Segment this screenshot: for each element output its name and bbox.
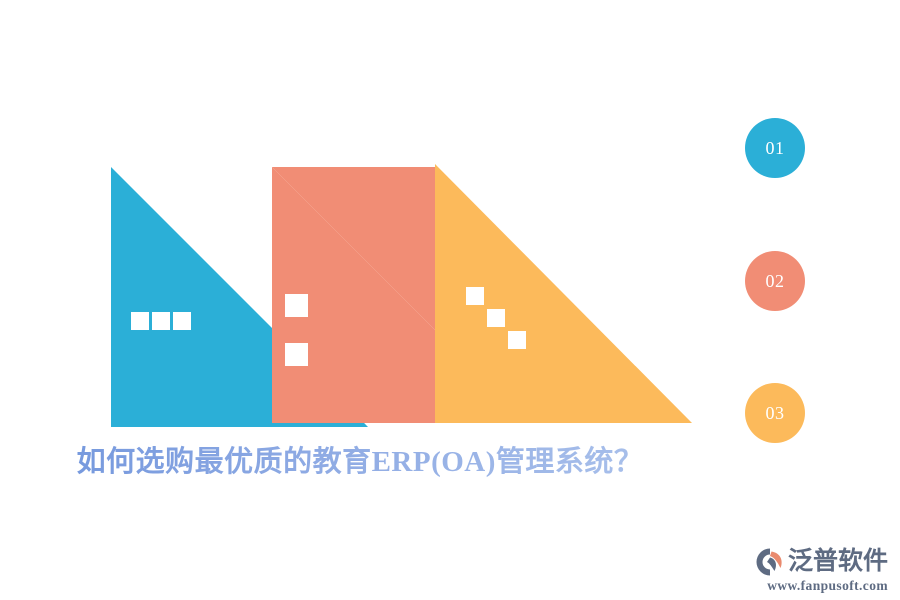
marker-square-02-a: [285, 294, 308, 317]
step-circle-01-label: 01: [766, 139, 785, 157]
marker-square-01-c: [173, 312, 191, 330]
step-circle-02-label: 02: [766, 272, 785, 290]
step-circle-03[interactable]: 03: [745, 383, 805, 443]
triangle-series-02: [272, 167, 437, 423]
marker-square-03-b: [487, 309, 505, 327]
brand-url: www.fanpusoft.com: [767, 579, 888, 593]
slide-canvas: 如何选购最优质的教育ERP(OA)管理系统？ 01 02 03 泛普软件 www…: [0, 0, 900, 600]
marker-square-01-b: [152, 312, 170, 330]
page-title: 如何选购最优质的教育ERP(OA)管理系统？: [0, 442, 720, 482]
triangles-graphic: [0, 0, 720, 440]
step-circle-02[interactable]: 02: [745, 251, 805, 311]
brand-watermark: 泛普软件 www.fanpusoft.com: [755, 547, 888, 593]
step-circle-03-label: 03: [766, 404, 785, 422]
brand-name: 泛普软件: [788, 549, 888, 574]
marker-square-02-b: [285, 343, 308, 366]
triangles-svg: [0, 0, 720, 440]
step-circle-01[interactable]: 01: [745, 118, 805, 178]
triangle-series-03: [435, 164, 692, 423]
fanpu-swoosh-icon: [755, 547, 785, 577]
marker-square-03-c: [508, 331, 526, 349]
marker-square-03-a: [466, 287, 484, 305]
step-circle-list: 01 02 03: [745, 118, 815, 478]
brand-row: 泛普软件: [755, 547, 888, 577]
marker-square-01-a: [131, 312, 149, 330]
